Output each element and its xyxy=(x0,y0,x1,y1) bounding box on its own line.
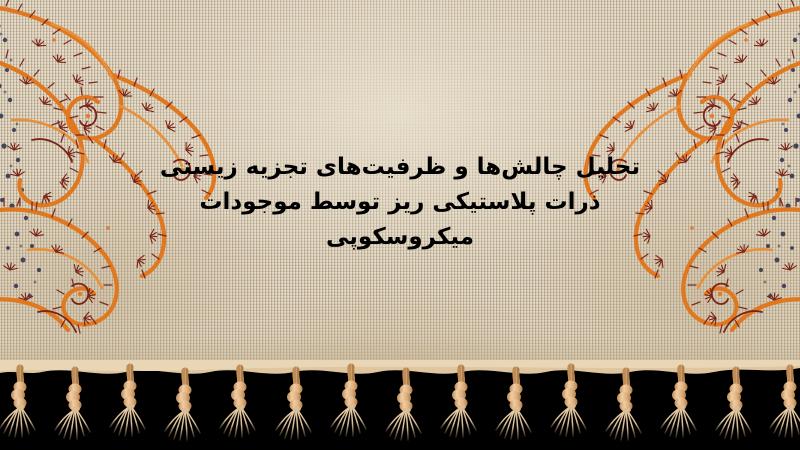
tassel-fringe xyxy=(0,360,800,450)
embroidery-corner-top-right xyxy=(548,0,800,360)
embroidery-corner-top-left xyxy=(0,0,252,360)
slide-canvas: تحلیل چالش‌ها و ظرفیت‌های تجزیه زیستی ذر… xyxy=(0,0,800,450)
